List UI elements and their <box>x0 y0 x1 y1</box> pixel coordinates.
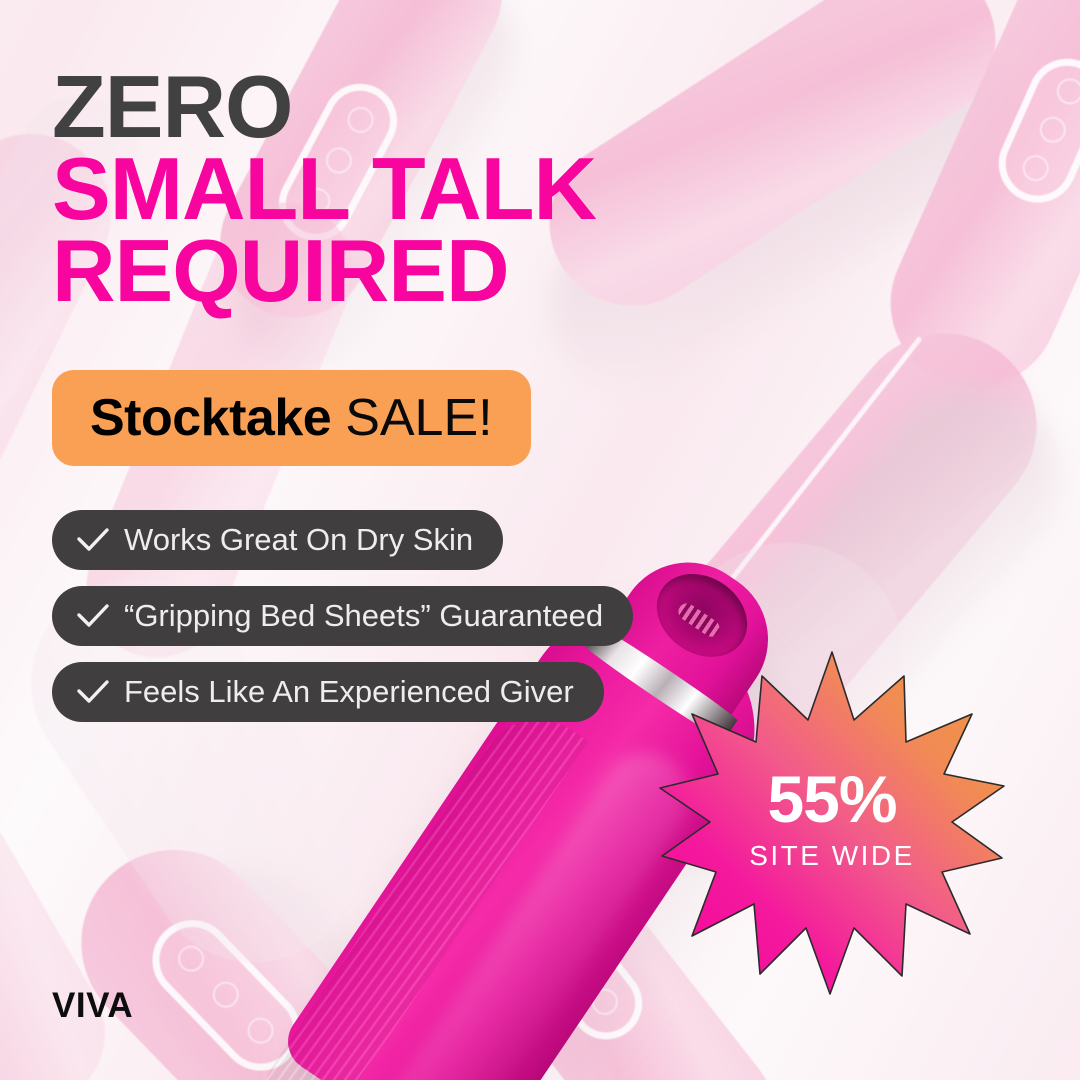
discount-badge: 55% SITE WIDE <box>656 646 1008 998</box>
product-hero-nozzle-grille <box>675 600 723 640</box>
sale-banner-strong-text: Stocktake <box>90 388 331 448</box>
list-item: Works Great On Dry Skin <box>52 510 503 570</box>
feature-list: Works Great On Dry Skin “Gripping Bed Sh… <box>52 510 633 722</box>
list-item-label: Works Great On Dry Skin <box>124 522 473 558</box>
discount-subtitle: SITE WIDE <box>656 840 1008 872</box>
background-wand-button-icon <box>1019 151 1053 185</box>
check-icon <box>76 603 110 629</box>
sale-banner-light-text: SALE! <box>345 388 492 448</box>
background-wand-button-icon <box>1053 74 1080 108</box>
background-wand-button-icon <box>173 940 210 977</box>
background-wand-button-icon <box>242 1012 279 1049</box>
discount-percent: 55% <box>656 766 1008 832</box>
list-item: Feels Like An Experienced Giver <box>52 662 604 722</box>
background-wand-shadow <box>520 0 1046 421</box>
brand-logo: VIVA <box>52 986 133 1026</box>
check-icon <box>76 679 110 705</box>
check-icon <box>76 527 110 553</box>
list-item: “Gripping Bed Sheets” Guaranteed <box>52 586 633 646</box>
background-wand-button-icon <box>1036 113 1070 147</box>
page-title: ZERO SMALL TALK REQUIRED <box>52 66 596 311</box>
list-item-label: Feels Like An Experienced Giver <box>124 674 574 710</box>
list-item-label: “Gripping Bed Sheets” Guaranteed <box>124 598 603 634</box>
background-wand-button-icon <box>207 976 244 1013</box>
background-wand <box>864 0 1080 414</box>
headline-line-1: ZERO <box>52 66 596 148</box>
background-wand <box>0 775 132 1080</box>
background-wand-control-panel <box>986 46 1080 215</box>
sale-banner: Stocktake SALE! <box>52 370 531 466</box>
discount-badge-text: 55% SITE WIDE <box>656 766 1008 872</box>
headline-line-2: SMALL TALK <box>52 148 596 230</box>
headline-line-3: REQUIRED <box>52 230 596 312</box>
promotional-ad-canvas: ZERO SMALL TALK REQUIRED Stocktake SALE!… <box>0 0 1080 1080</box>
